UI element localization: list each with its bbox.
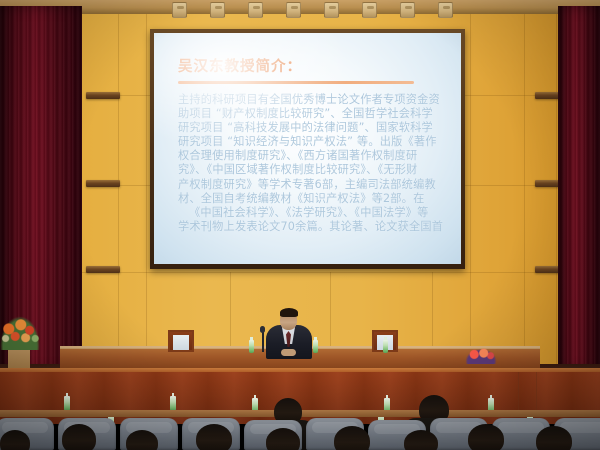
presentation-slide: 吴汉东教授简介： 主持的科研项目有全国优秀博士论文作者专项资金资 助项目 “财产… — [154, 33, 461, 264]
audience-head — [126, 430, 158, 450]
chair-back-panel — [173, 335, 189, 350]
curtain-hook-icon — [362, 2, 377, 18]
seat-pad — [498, 422, 544, 433]
slide-body-line: 材、全国自考统编教材《知识产权法》等2部。在 — [178, 192, 443, 206]
water-bottle — [170, 396, 176, 411]
slide-title-rule — [178, 81, 414, 84]
microphone-icon — [260, 326, 265, 333]
slide-body: 主持的科研项目有全国优秀博士论文作者专项资金资 助项目 “财产权制度比较研究”、… — [178, 93, 443, 234]
projection-screen-frame: 吴汉东教授简介： 主持的科研项目有全国优秀博士论文作者专项资金资 助项目 “财产… — [150, 29, 465, 269]
audience-head — [0, 430, 30, 450]
curtain-hook-icon — [172, 2, 187, 18]
lecture-hall-scene: 吴汉东教授简介： 主持的科研项目有全国优秀博士论文作者专项资金资 助项目 “财产… — [0, 0, 600, 450]
slide-body-line: 权合理使用制度研究》、《西方诸国著作权制度研 — [178, 149, 443, 163]
audience-head — [196, 424, 232, 450]
projection-screen: 吴汉东教授简介： 主持的科研项目有全国优秀博士论文作者专项资金资 助项目 “财产… — [154, 33, 461, 264]
curtain-hook-icon — [210, 2, 225, 18]
slide-body-line: 研究项目 “知识经济与知识产权法” 等。出版《著作 — [178, 135, 443, 149]
stage-curtain-right — [558, 6, 600, 372]
curtain-hook-icon — [286, 2, 301, 18]
slide-body-line: 研究项目 “高科技发展中的法律问题”、国家软科学 — [178, 121, 443, 135]
curtain-hook-icon — [248, 2, 263, 18]
cable — [518, 372, 536, 410]
audience-head — [62, 424, 96, 450]
curtain-hook-icon — [438, 2, 453, 18]
audience-head — [266, 428, 300, 450]
slide-title: 吴汉东教授简介： — [178, 55, 443, 76]
curtain-hook-icon — [400, 2, 415, 18]
cable — [536, 372, 554, 410]
water-bottle — [313, 340, 318, 353]
wall-trim — [86, 180, 120, 187]
table-flower-arrangement — [464, 348, 498, 364]
wall-trim — [86, 266, 120, 273]
slide-body-line: 《中国社会科学》、《法学研究》、《中国法学》等 — [178, 206, 443, 220]
audience-head — [334, 426, 370, 450]
water-bottle — [64, 396, 70, 411]
water-bottle — [383, 340, 388, 353]
water-bottle — [249, 340, 254, 353]
curtain-hook-icon — [324, 2, 339, 18]
slide-body-line: 学术刊物上发表论文70余篇。其论著、论文获全国首 — [178, 220, 443, 234]
audience-head — [536, 426, 572, 450]
speaker-hands — [281, 349, 296, 356]
slide-body-line: 产权制度研究》等学术专著6部，主编司法部统编教 — [178, 178, 443, 192]
slide-body-line: 究》、《中国区域著作权制度比较研究》、《无形财 — [178, 163, 443, 177]
speaker-hair — [280, 308, 298, 317]
slide-body-line: 主持的科研项目有全国优秀博士论文作者专项资金资 — [178, 93, 443, 107]
audience-head — [468, 424, 504, 450]
audience-head — [404, 430, 438, 450]
wall-trim — [86, 92, 120, 99]
empty-chair — [168, 330, 194, 352]
flower-arrangement — [0, 316, 40, 350]
microphone-stand — [262, 330, 264, 352]
slide-body-line: 助项目 “财产权制度比较研究”、全国哲学社会科学 — [178, 107, 443, 121]
